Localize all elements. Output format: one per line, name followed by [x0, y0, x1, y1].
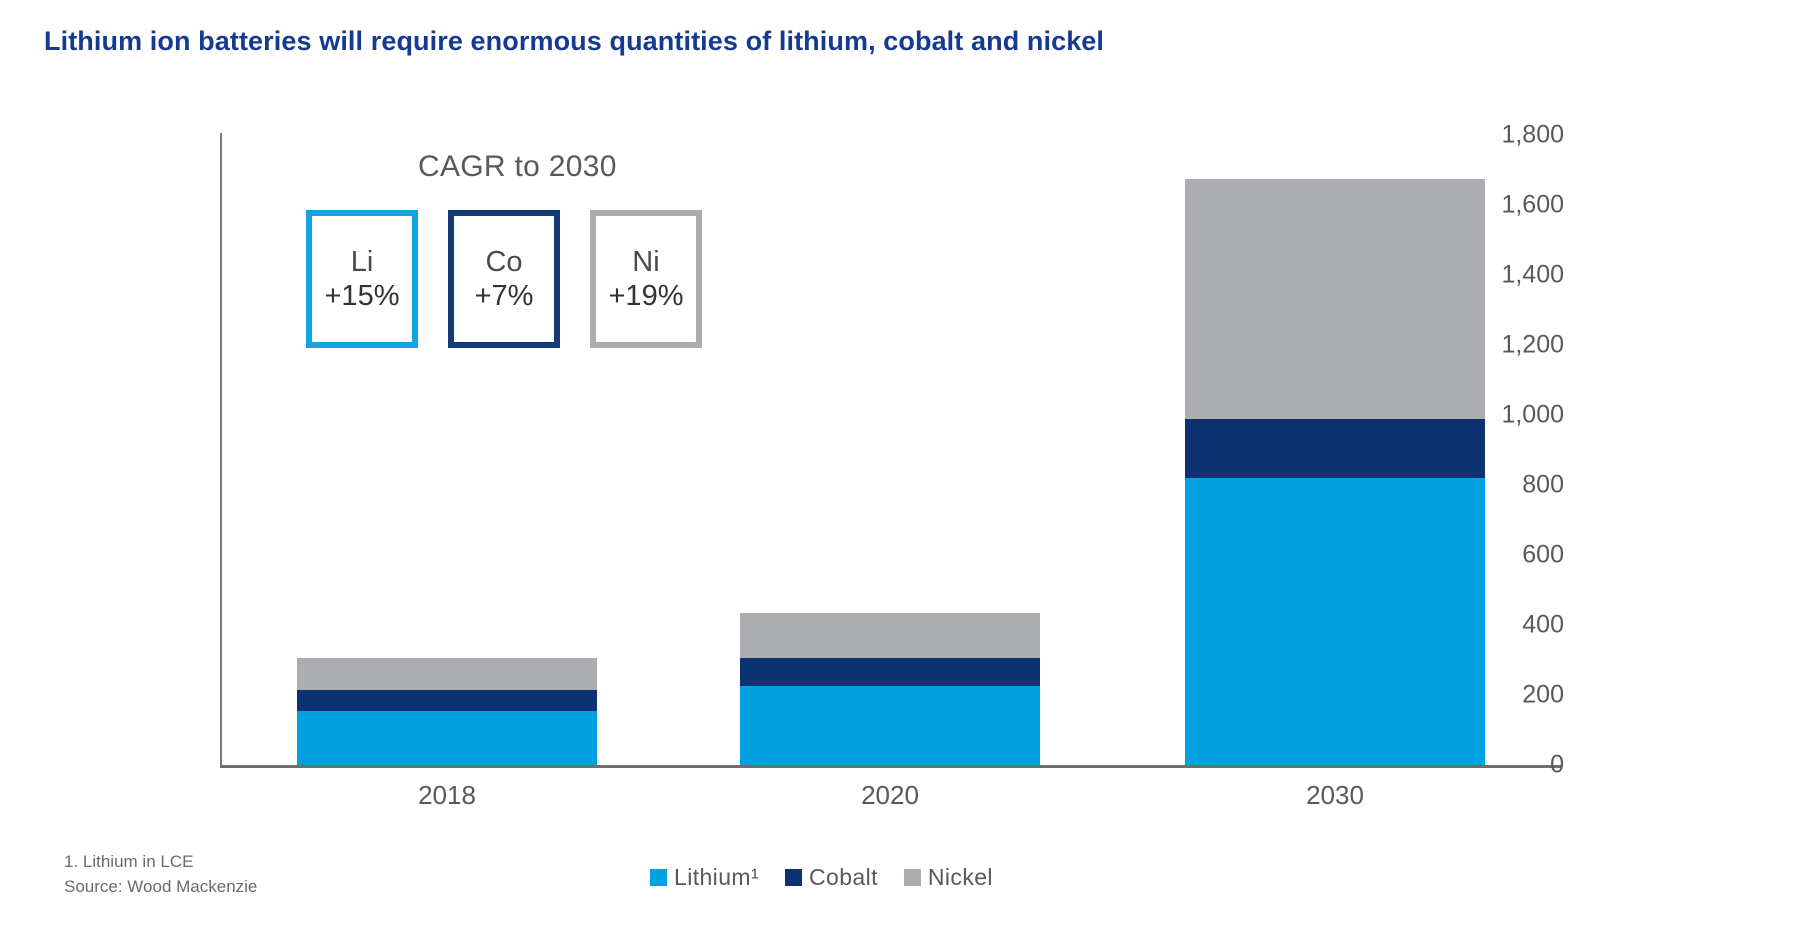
cagr-symbol-cobalt: Co — [485, 245, 522, 279]
bar-segment-2018-lithium[interactable] — [297, 711, 597, 765]
x-axis-tick-label-2020: 2020 — [740, 780, 1040, 811]
bar-segment-2020-cobalt[interactable] — [740, 658, 1040, 686]
cagr-box-nickel: Ni +19% — [590, 210, 702, 348]
page-title: Lithium ion batteries will require enorm… — [44, 26, 1104, 57]
legend-label: Cobalt — [809, 864, 878, 891]
footnote-line-1: 1. Lithium in LCE — [64, 850, 257, 875]
bar-segment-2030-lithium[interactable] — [1185, 478, 1485, 765]
bar-segment-2018-nickel[interactable] — [297, 658, 597, 690]
bar-segment-2020-lithium[interactable] — [740, 686, 1040, 765]
bar-segment-2018-cobalt[interactable] — [297, 690, 597, 711]
bar-segment-2030-nickel[interactable] — [1185, 179, 1485, 419]
bar-group-2030[interactable] — [1185, 135, 1485, 765]
legend-label: Nickel — [928, 864, 993, 891]
cagr-box-lithium: Li +15% — [306, 210, 418, 348]
legend-swatch-icon — [904, 869, 921, 886]
legend-swatch-icon — [785, 869, 802, 886]
bar-group-2020[interactable] — [740, 135, 1040, 765]
bar-segment-2030-cobalt[interactable] — [1185, 419, 1485, 479]
legend-item[interactable]: Nickel — [904, 864, 993, 891]
x-axis-tick-label-2018: 2018 — [297, 780, 597, 811]
cagr-box-group: Li +15% Co +7% Ni +19% — [306, 210, 702, 348]
bar-segment-2020-nickel[interactable] — [740, 613, 1040, 659]
legend-item[interactable]: Lithium¹ — [650, 864, 759, 891]
legend-swatch-icon — [650, 869, 667, 886]
legend-label: Lithium¹ — [674, 864, 759, 891]
chart-legend: Lithium¹CobaltNickel — [650, 864, 993, 891]
legend-item[interactable]: Cobalt — [785, 864, 878, 891]
cagr-value-nickel: +19% — [609, 279, 684, 313]
cagr-value-cobalt: +7% — [475, 279, 534, 313]
cagr-heading: CAGR to 2030 — [418, 150, 617, 184]
x-axis-line — [220, 765, 1562, 768]
cagr-symbol-nickel: Ni — [632, 245, 659, 279]
cagr-value-lithium: +15% — [325, 279, 400, 313]
footnote-line-2: Source: Wood Mackenzie — [64, 875, 257, 900]
cagr-symbol-lithium: Li — [351, 245, 374, 279]
x-axis-tick-label-2030: 2030 — [1185, 780, 1485, 811]
cagr-box-cobalt: Co +7% — [448, 210, 560, 348]
footnote: 1. Lithium in LCE Source: Wood Mackenzie — [64, 850, 257, 899]
